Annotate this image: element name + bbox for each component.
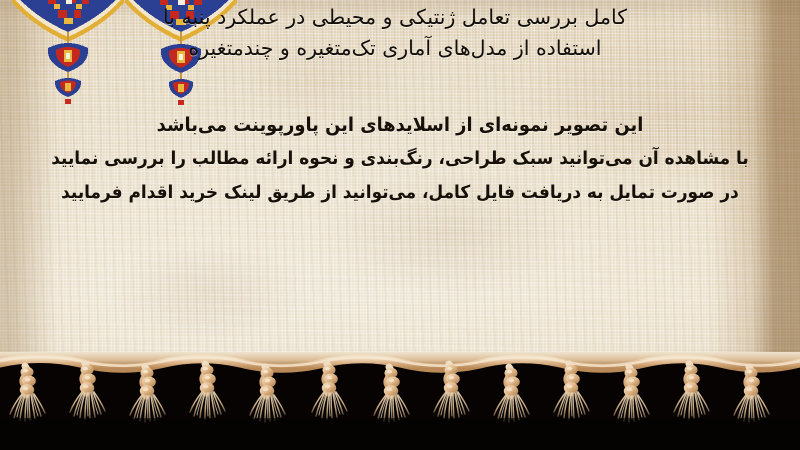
body-line-1: این تصویر نمونه‌ای از اسلایدهای این پاور… [24, 108, 776, 142]
title-line-2: استفاده از مدل‌های آماری تک‌متغیره و چند… [6, 33, 784, 64]
body-line-3: در صورت تمایل به دریافت فایل کامل، می‌تو… [24, 176, 776, 210]
slide-canvas: کامل بررسی تعامل ژنتیکی و محیطی در عملکر… [0, 0, 800, 450]
carpet-fringe-tassels [0, 352, 800, 450]
slide-text-layer: کامل بررسی تعامل ژنتیکی و محیطی در عملکر… [0, 0, 800, 376]
body-line-2: با مشاهده آن می‌توانید سبک طراحی، رنگ‌بن… [24, 142, 776, 176]
slide-body: این تصویر نمونه‌ای از اسلایدهای این پاور… [0, 108, 800, 210]
slide-title: کامل بررسی تعامل ژنتیکی و محیطی در عملکر… [0, 2, 800, 64]
title-line-1: کامل بررسی تعامل ژنتیکی و محیطی در عملکر… [6, 2, 784, 33]
